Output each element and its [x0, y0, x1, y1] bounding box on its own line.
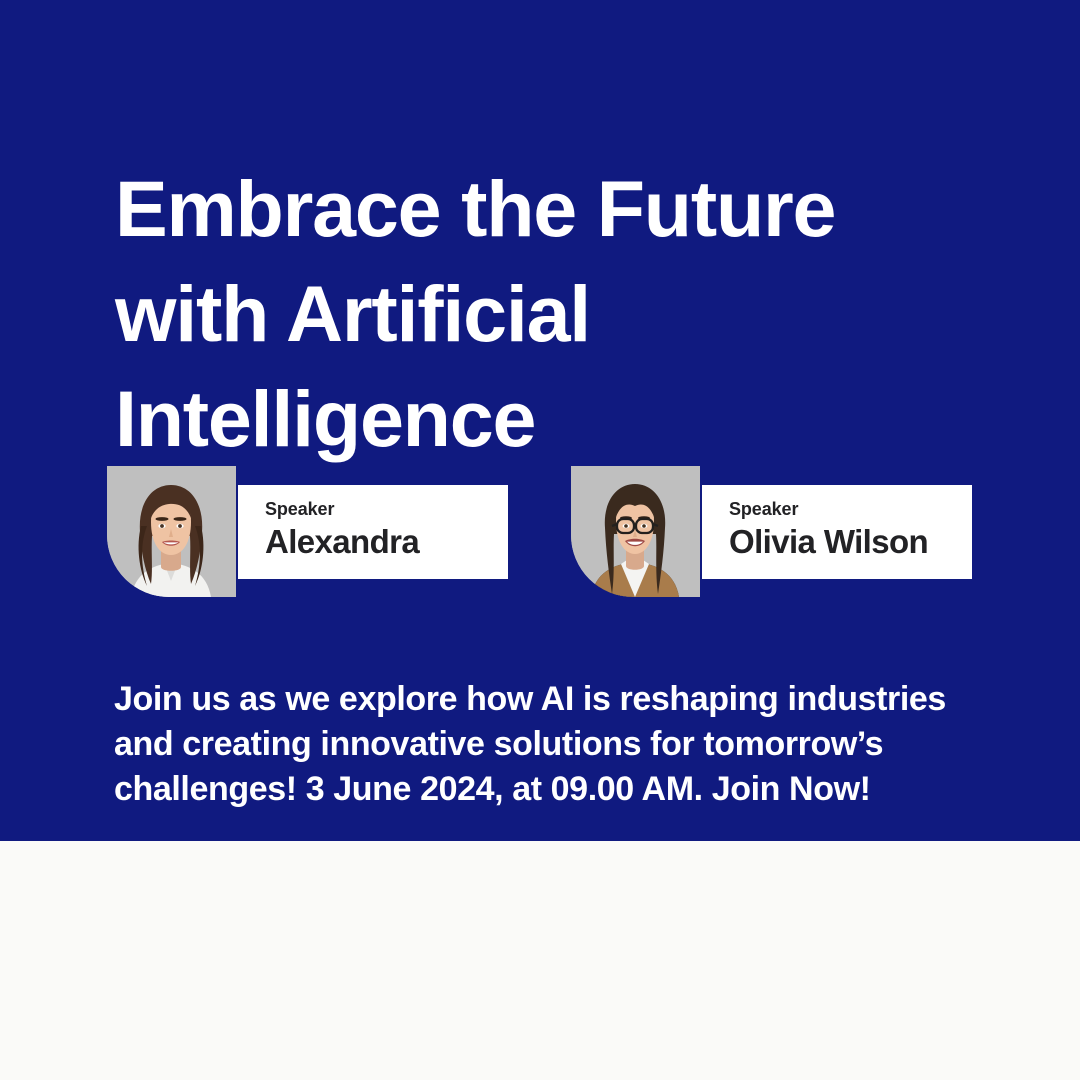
page-title: Embrace the Future with Artificial Intel… [115, 156, 1015, 471]
event-poster: Embrace the Future with Artificial Intel… [0, 0, 1080, 1080]
body-line-2: and creating innovative solutions for to… [114, 722, 994, 767]
speaker-name: Olivia Wilson [729, 521, 972, 563]
headline-line-1: Embrace the Future [115, 156, 1015, 261]
speaker-info-panel-olivia-wilson: Speaker Olivia Wilson [702, 485, 972, 579]
headline-line-2: with Artificial [115, 261, 1015, 366]
speaker-photo-alexandra [107, 466, 236, 597]
headline-line-3: Intelligence [115, 366, 1015, 471]
speaker-role-label: Speaker [729, 498, 972, 520]
speaker-info-panel-alexandra: Speaker Alexandra [238, 485, 508, 579]
event-description: Join us as we explore how AI is reshapin… [114, 677, 994, 812]
footer-section: Capcut Free Registration! Follow our soc… [0, 841, 1080, 1080]
body-line-1: Join us as we explore how AI is reshapin… [114, 677, 994, 722]
speaker-name: Alexandra [265, 521, 508, 563]
hero-section: Embrace the Future with Artificial Intel… [0, 0, 1080, 841]
speaker-photo-olivia-wilson [571, 466, 700, 597]
speaker-role-label: Speaker [265, 498, 508, 520]
body-line-3: challenges! 3 June 2024, at 09.00 AM. Jo… [114, 767, 994, 812]
